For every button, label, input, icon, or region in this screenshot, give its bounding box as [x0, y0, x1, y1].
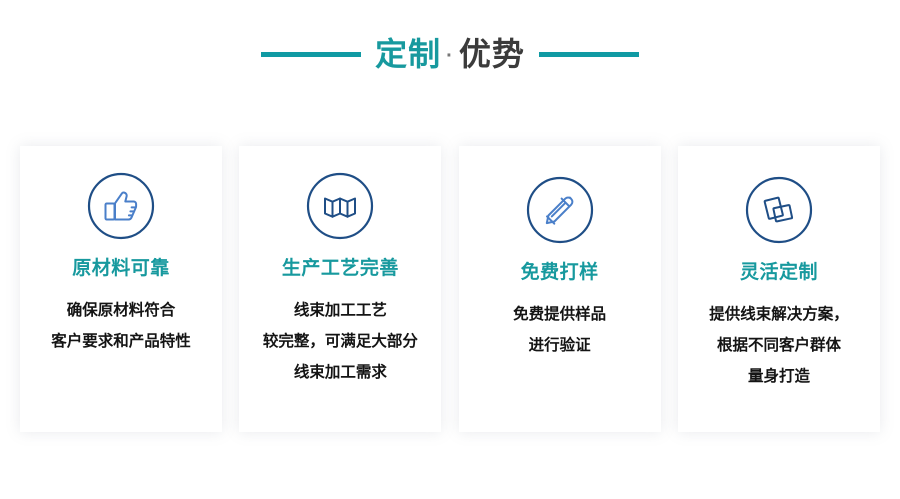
- heading-rule-right: [539, 52, 639, 57]
- feature-card-description: 线束加工工艺 较完整，可满足大部分 线束加工需求: [245, 295, 435, 388]
- feature-card-list: 原材料可靠 确保原材料符合 客户要求和产品特性 生产工艺完善 线束加工工艺 较完…: [20, 146, 880, 432]
- feature-card-description-line: 根据不同客户群体: [684, 330, 874, 361]
- feature-card-description: 免费提供样品 进行验证: [465, 299, 655, 361]
- feature-card-description-line: 量身打造: [684, 361, 874, 392]
- feature-card-description-line: 客户要求和产品特性: [26, 326, 216, 357]
- pencil-icon: [524, 174, 596, 246]
- stacked-cards-icon: [743, 174, 815, 246]
- feature-card-title: 免费打样: [521, 262, 599, 285]
- feature-card[interactable]: 原材料可靠 确保原材料符合 客户要求和产品特性: [20, 146, 222, 432]
- feature-card-description-line: 线束加工工艺: [245, 295, 435, 326]
- feature-card-description-line: 提供线束解决方案，: [684, 299, 874, 330]
- feature-card-description: 提供线束解决方案， 根据不同客户群体 量身打造: [684, 299, 874, 392]
- feature-card-description-line: 免费提供样品: [465, 299, 655, 330]
- page-title-accent: 定制: [375, 38, 441, 70]
- feature-card-description-line: 确保原材料符合: [26, 295, 216, 326]
- feature-card-title: 灵活定制: [740, 262, 818, 285]
- feature-card-title: 生产工艺完善: [282, 258, 399, 281]
- feature-card[interactable]: 免费打样 免费提供样品 进行验证: [459, 146, 661, 432]
- page-title: 定制 · 优势: [375, 38, 525, 70]
- feature-card-description: 确保原材料符合 客户要求和产品特性: [26, 295, 216, 357]
- feature-card[interactable]: 灵活定制 提供线束解决方案， 根据不同客户群体 量身打造: [678, 146, 880, 432]
- feature-card-title: 原材料可靠: [72, 258, 170, 281]
- feature-card-description-line: 进行验证: [465, 330, 655, 361]
- heading-rule-left: [261, 52, 361, 57]
- page-title-separator: ·: [446, 46, 454, 66]
- thumbs-up-icon: [85, 170, 157, 242]
- feature-card-description-line: 线束加工需求: [245, 357, 435, 388]
- feature-card[interactable]: 生产工艺完善 线束加工工艺 较完整，可满足大部分 线束加工需求: [239, 146, 441, 432]
- feature-card-description-line: 较完整，可满足大部分: [245, 326, 435, 357]
- section-heading: 定制 · 优势: [0, 28, 900, 80]
- folded-map-icon: [304, 170, 376, 242]
- page-title-main: 优势: [459, 38, 525, 70]
